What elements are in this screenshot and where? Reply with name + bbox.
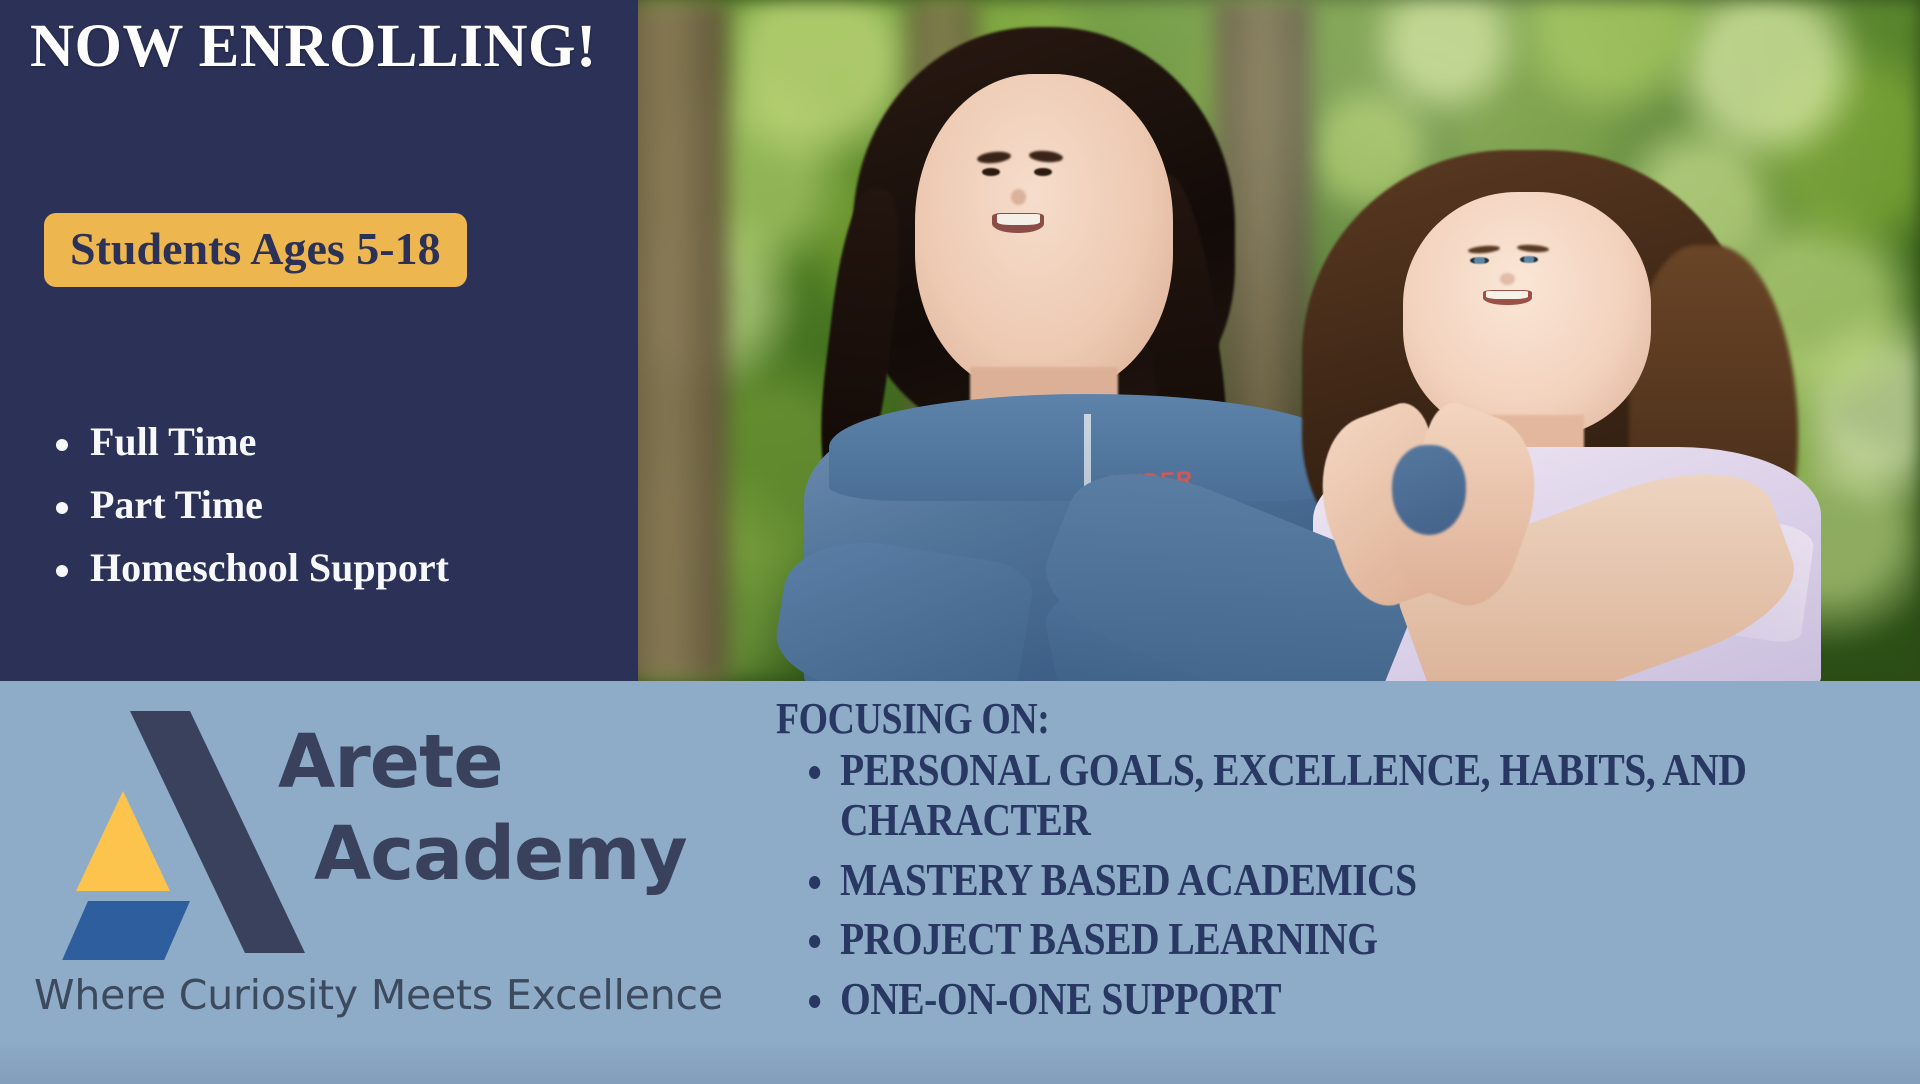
brand-tagline: Where Curiosity Meets Excellence — [34, 971, 734, 1019]
eye — [1470, 257, 1489, 264]
navy-info-panel: NOW ENROLLING! Students Ages 5-18 Full T… — [0, 0, 638, 681]
smiling-mouth — [1483, 290, 1533, 305]
list-item: Homeschool Support — [90, 546, 660, 591]
page-title: NOW ENROLLING! — [30, 16, 620, 78]
eyebrow — [1517, 244, 1550, 254]
eye — [1520, 256, 1539, 263]
age-range-badge: Students Ages 5-18 — [44, 213, 467, 287]
eyebrow — [1467, 245, 1500, 255]
focus-heading: FOCUSING ON: — [776, 695, 1739, 743]
nose — [1500, 273, 1515, 285]
footer-shadow — [0, 1038, 1920, 1084]
brand-name-line2: Academy — [278, 809, 718, 901]
promotional-poster: UNDER ARMOUR — [0, 0, 1920, 1084]
hero-photo: UNDER ARMOUR — [638, 0, 1920, 681]
heart-hands-gesture — [1330, 409, 1535, 613]
teeth — [1486, 291, 1528, 299]
eye — [982, 168, 1000, 176]
brand-lockup: Arete Academy Where Curiosity Meets Exce… — [16, 699, 736, 1059]
focus-section: FOCUSING ON: PERSONAL GOALS, EXCELLENCE,… — [776, 695, 1896, 1034]
list-item: Part Time — [90, 483, 660, 528]
arete-academy-logo-icon — [30, 705, 310, 960]
eyebrow — [976, 150, 1011, 164]
smiling-mouth — [992, 213, 1044, 233]
list-item: ONE-ON-ONE SUPPORT — [840, 974, 1748, 1024]
face — [1403, 192, 1651, 436]
list-item: MASTERY BASED ACADEMICS — [840, 855, 1748, 905]
eyebrow — [1028, 149, 1062, 163]
face — [915, 74, 1173, 394]
teeth — [997, 214, 1040, 224]
list-item: PERSONAL GOALS, EXCELLENCE, HABITS, AND … — [840, 745, 1748, 844]
brand-wordmark: Arete Academy — [278, 717, 718, 901]
list-item: Full Time — [90, 420, 660, 465]
nose — [1011, 189, 1027, 205]
focus-items-list: PERSONAL GOALS, EXCELLENCE, HABITS, AND … — [776, 745, 1896, 1023]
eye — [1034, 168, 1052, 176]
heart-opening — [1392, 445, 1466, 535]
list-item: PROJECT BASED LEARNING — [840, 914, 1748, 964]
brand-name-line1: Arete — [278, 717, 718, 809]
enrollment-options-list: Full Time Part Time Homeschool Support — [40, 420, 660, 608]
footer-band: Arete Academy Where Curiosity Meets Exce… — [0, 681, 1920, 1084]
